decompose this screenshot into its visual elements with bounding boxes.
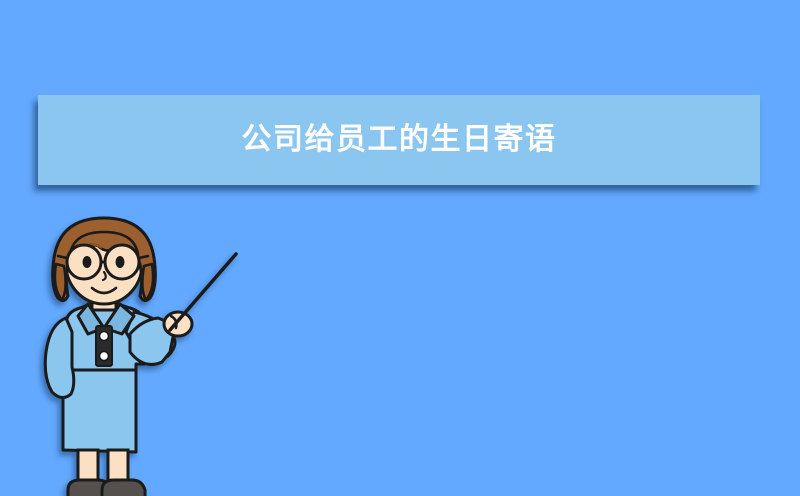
title-banner: 公司给员工的生日寄语 bbox=[38, 95, 760, 185]
hand-shape bbox=[164, 312, 192, 336]
left-arm-shape bbox=[45, 318, 74, 398]
slide-canvas: 公司给员工的生日寄语 bbox=[0, 0, 800, 496]
shoes-shape bbox=[68, 480, 145, 496]
placket-buttons bbox=[96, 326, 112, 366]
teacher-illustration bbox=[18, 212, 278, 496]
page-title: 公司给员工的生日寄语 bbox=[242, 125, 557, 155]
pointer-stick bbox=[170, 254, 236, 330]
